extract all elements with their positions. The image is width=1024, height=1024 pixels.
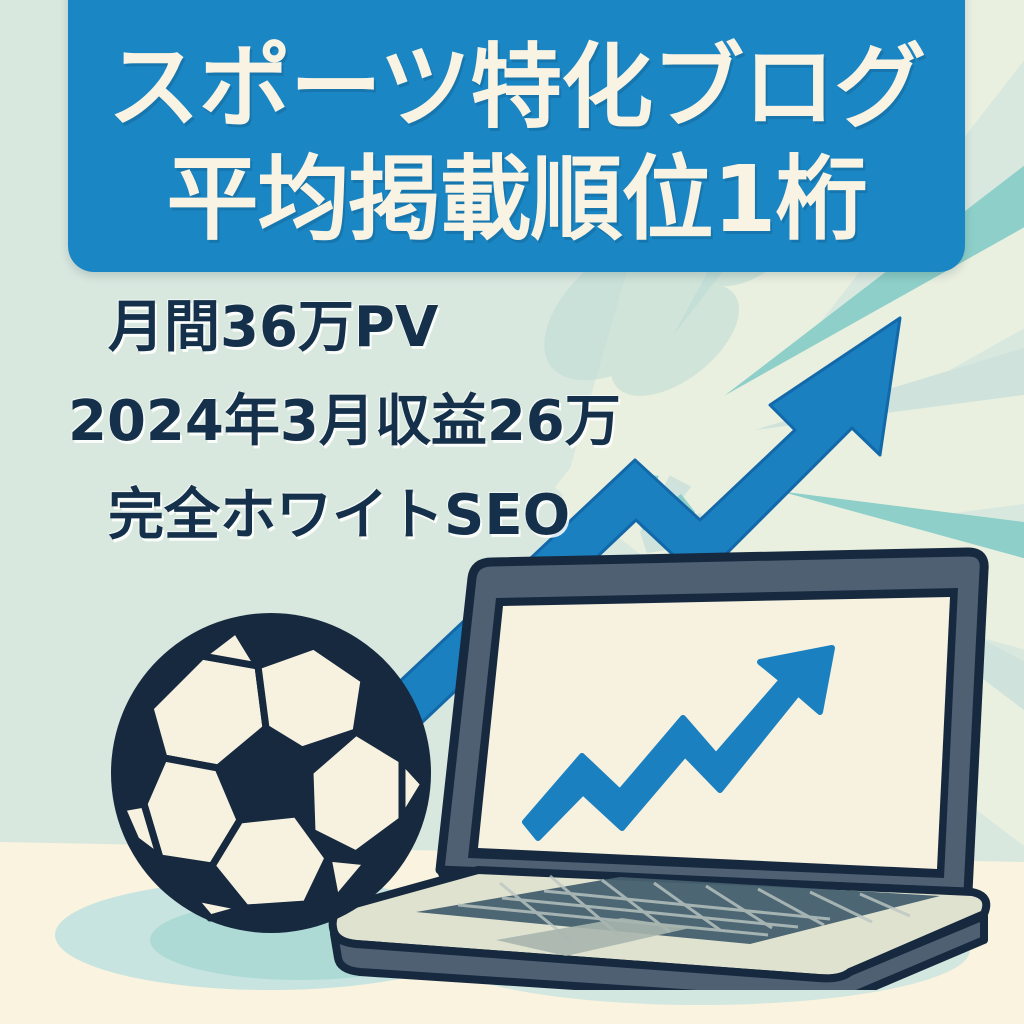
banner-title-line-1: スポーツ特化ブログ [108,32,925,144]
soccer-ball-svg [106,608,436,938]
header-banner: スポーツ特化ブログ 平均掲載順位1桁 [68,0,965,272]
stat-line-revenue: 2024年3月収益26万 [68,394,686,450]
stat-line-white-seo: 完全ホワイトSEO [108,488,686,544]
stats-block: 月間36万PV 2024年3月収益26万 完全ホワイトSEO [66,300,686,544]
soccer-ball [106,608,436,938]
banner-title-line-2: 平均掲載順位1桁 [166,144,866,256]
stat-line-monthly-pv: 月間36万PV [108,300,686,356]
poster-canvas: スポーツ特化ブログ 平均掲載順位1桁 月間36万PV 2024年3月収益26万 … [0,0,1024,1024]
